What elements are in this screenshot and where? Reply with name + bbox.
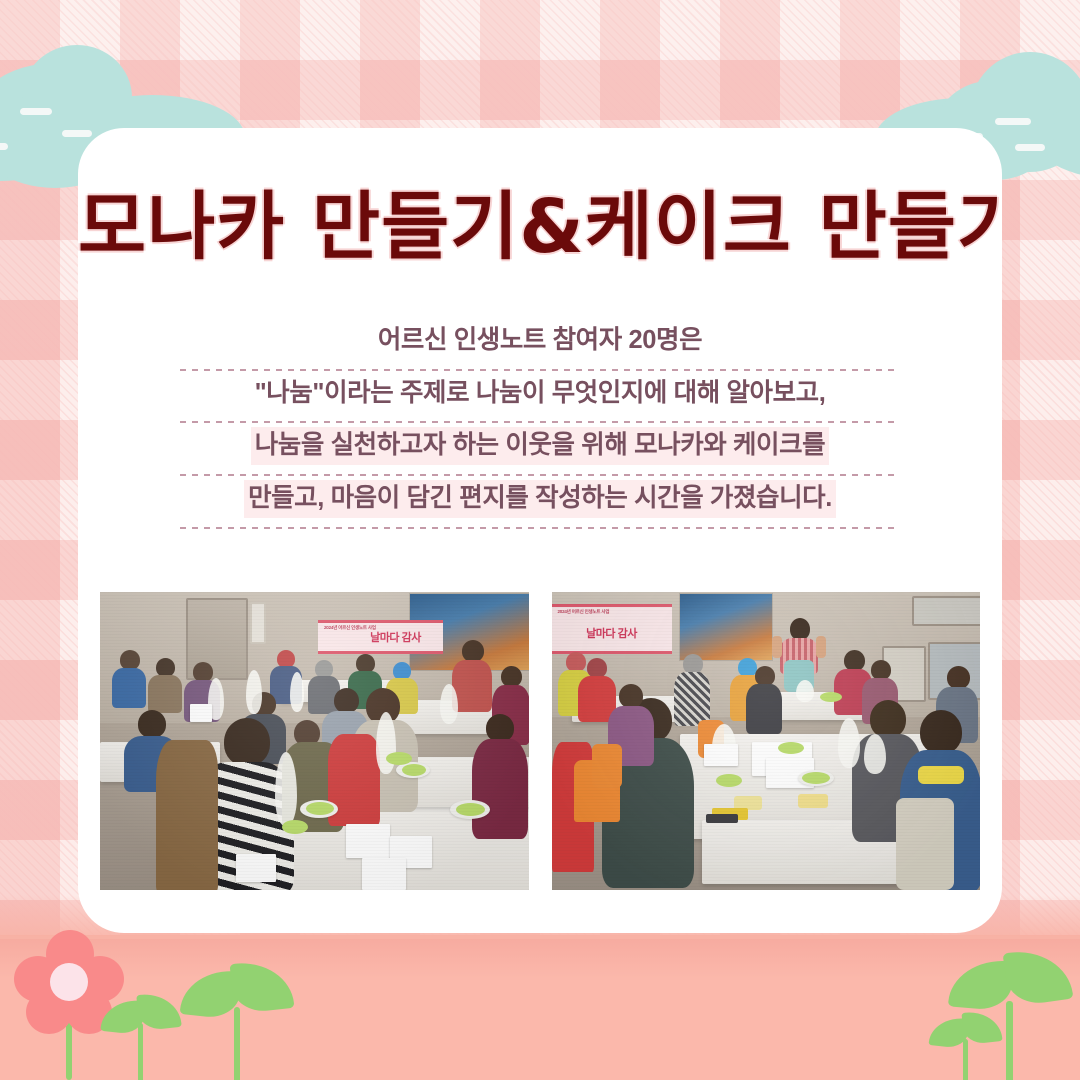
body-line-1-text: 어르신 인생노트 참여자 20명은 <box>374 322 706 360</box>
content-card: 모나카 만들기&케이크 만들기 어르신 인생노트 참여자 20명은 "나눔"이라… <box>78 128 1002 933</box>
sprout-icon-small-left <box>100 985 180 1080</box>
body-line-4: 만들고, 마음이 담긴 편지를 작성하는 시간을 가졌습니다. <box>180 476 900 527</box>
body-line-2-text: "나눔"이라는 주제로 나눔이 무엇인지에 대해 알아보고, <box>251 375 830 413</box>
body-text-block: 어르신 인생노트 참여자 20명은 "나눔"이라는 주제로 나눔이 무엇인지에 … <box>180 318 900 529</box>
page-title: 모나카 만들기&케이크 만들기 <box>78 188 1002 268</box>
body-line-3-text: 나눔을 실천하고자 하는 이웃을 위해 모나카와 케이크를 <box>251 427 830 465</box>
photo-left-banner-subtext: 2024년 어르신 인생노트 사업 <box>324 625 376 631</box>
sprout-icon-large-left <box>182 955 292 1080</box>
poster-canvas: 모나카 만들기&케이크 만들기 어르신 인생노트 참여자 20명은 "나눔"이라… <box>0 0 1080 1080</box>
activity-photo-right: 2024년 어르신 인생노트 사업 날마다 감사 <box>552 592 981 890</box>
divider-4 <box>180 527 900 529</box>
photo-left-banner-text: 날마다 감사 <box>370 629 421 645</box>
photo-right-banner-text: 날마다 감사 <box>586 625 637 641</box>
photo-right-banner-subtext: 2024년 어르신 인생노트 사업 <box>558 609 610 615</box>
body-line-2: "나눔"이라는 주제로 나눔이 무엇인지에 대해 알아보고, <box>180 371 900 422</box>
body-line-4-text: 만들고, 마음이 담긴 편지를 작성하는 시간을 가졌습니다. <box>244 480 836 518</box>
body-line-1: 어르신 인생노트 참여자 20명은 <box>180 318 900 369</box>
sprout-icon-large-right <box>950 945 1070 1080</box>
body-line-3: 나눔을 실천하고자 하는 이웃을 위해 모나카와 케이크를 <box>180 423 900 474</box>
activity-photo-left: 2024년 어르신 인생노트 사업 날마다 감사 <box>100 592 529 890</box>
photo-gallery: 2024년 어르신 인생노트 사업 날마다 감사 <box>100 592 980 890</box>
